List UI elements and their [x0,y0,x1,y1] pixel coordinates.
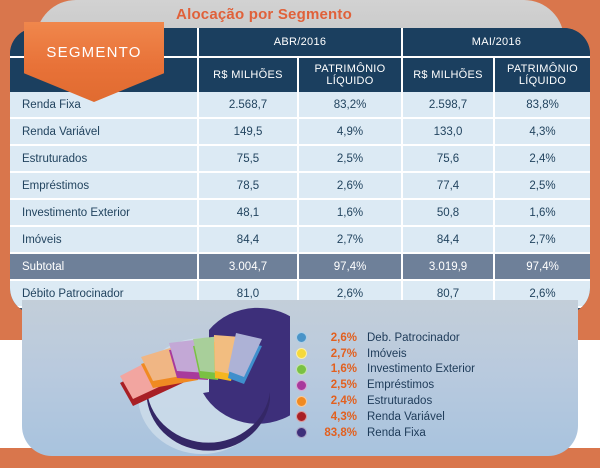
subheader-mai-pl: PATRIMÔNIO LÍQUIDO [494,57,590,92]
legend-item-investimento-exterior[interactable]: 1,6% Investimento Exterior [296,362,566,378]
cell-mai-milhoes: 133,0 [402,118,494,145]
cell-abr-pl: 4,9% [298,118,402,145]
table-row-subtotal: Subtotal 3.004,7 97,4% 3.019,9 97,4% [10,253,590,280]
legend-percent: 2,6% [313,332,357,344]
legend-label: Empréstimos [367,379,434,391]
legend-color-swatch-icon [296,427,307,438]
cell-mai-pl: 97,4% [494,253,590,280]
cell-mai-pl: 83,8% [494,92,590,118]
cell-abr-milhoes: 84,4 [198,226,298,253]
cell-segment: Empréstimos [10,172,198,199]
cell-mai-pl: 2,5% [494,172,590,199]
legend-percent: 1,6% [313,363,357,375]
legend-color-swatch-icon [296,411,307,422]
cell-abr-milhoes: 75,5 [198,145,298,172]
table-row: Investimento Exterior 48,1 1,6% 50,8 1,6… [10,199,590,226]
pie-chart [110,288,290,460]
legend-item-renda-variavel[interactable]: 4,3% Renda Variável [296,409,566,425]
cell-mai-pl: 2,7% [494,226,590,253]
legend-item-deb-patrocinador[interactable]: 2,6% Deb. Patrocinador [296,330,566,346]
legend-item-renda-fixa[interactable]: 83,8% Renda Fixa [296,425,566,441]
legend-item-emprestimos[interactable]: 2,5% Empréstimos [296,377,566,393]
subheader-line: R$ MILHÕES [199,69,297,81]
cell-abr-pl: 83,2% [298,92,402,118]
report-card: Alocação por Segmento ABR/2016 MAI/2016 … [0,0,600,468]
subheader-abr-milhoes: R$ MILHÕES [198,57,298,92]
cell-mai-milhoes: 75,6 [402,145,494,172]
chart-legend: 2,6% Deb. Patrocinador 2,7% Imóveis 1,6%… [296,330,566,441]
table-row: Estruturados 75,5 2,5% 75,6 2,4% [10,145,590,172]
cell-abr-milhoes: 2.568,7 [198,92,298,118]
legend-percent: 4,3% [313,411,357,423]
cell-mai-milhoes: 77,4 [402,172,494,199]
pie-chart-svg [110,288,290,460]
legend-label: Deb. Patrocinador [367,332,460,344]
legend-label: Renda Fixa [367,427,426,439]
table-body: Renda Fixa 2.568,7 83,2% 2.598,7 83,8% R… [10,92,590,314]
subheader-mai-milhoes: R$ MILHÕES [402,57,494,92]
cell-abr-pl: 1,6% [298,199,402,226]
legend-color-swatch-icon [296,380,307,391]
legend-item-imoveis[interactable]: 2,7% Imóveis [296,346,566,362]
legend-color-swatch-icon [296,396,307,407]
cell-segment: Investimento Exterior [10,199,198,226]
legend-color-swatch-icon [296,332,307,343]
page-title: Alocação por Segmento [0,6,528,23]
col-group-mai: MAI/2016 [402,28,590,57]
cell-mai-milhoes: 3.019,9 [402,253,494,280]
table-row: Imóveis 84,4 2,7% 84,4 2,7% [10,226,590,253]
cell-mai-pl: 1,6% [494,199,590,226]
legend-percent: 83,8% [313,427,357,439]
cell-abr-pl: 2,7% [298,226,402,253]
subheader-line: LÍQUIDO [299,75,401,87]
legend-percent: 2,4% [313,395,357,407]
legend-color-swatch-icon [296,348,307,359]
legend-item-estruturados[interactable]: 2,4% Estruturados [296,393,566,409]
cell-mai-pl: 4,3% [494,118,590,145]
legend-percent: 2,7% [313,348,357,360]
cell-abr-milhoes: 48,1 [198,199,298,226]
cell-abr-milhoes: 78,5 [198,172,298,199]
cell-abr-pl: 2,5% [298,145,402,172]
cell-mai-milhoes: 2.598,7 [402,92,494,118]
cell-segment: Renda Variável [10,118,198,145]
subheader-line: PATRIMÔNIO [495,63,590,75]
col-group-abr: ABR/2016 [198,28,402,57]
cell-mai-milhoes: 50,8 [402,199,494,226]
cell-mai-milhoes: 84,4 [402,226,494,253]
legend-label: Imóveis [367,348,407,360]
legend-label: Renda Variável [367,411,445,423]
table-row: Renda Variável 149,5 4,9% 133,0 4,3% [10,118,590,145]
legend-label: Estruturados [367,395,432,407]
cell-mai-pl: 2,4% [494,145,590,172]
cell-segment: Imóveis [10,226,198,253]
cell-abr-milhoes: 149,5 [198,118,298,145]
segmento-badge-label: SEGMENTO [24,44,164,61]
subheader-line: LÍQUIDO [495,75,590,87]
cell-segment: Subtotal [10,253,198,280]
cell-segment: Estruturados [10,145,198,172]
cell-abr-pl: 97,4% [298,253,402,280]
subheader-line: R$ MILHÕES [403,69,493,81]
legend-percent: 2,5% [313,379,357,391]
subheader-line: PATRIMÔNIO [299,63,401,75]
cell-abr-milhoes: 3.004,7 [198,253,298,280]
cell-abr-pl: 2,6% [298,172,402,199]
legend-label: Investimento Exterior [367,363,475,375]
subheader-abr-pl: PATRIMÔNIO LÍQUIDO [298,57,402,92]
legend-color-swatch-icon [296,364,307,375]
table-row: Empréstimos 78,5 2,6% 77,4 2,5% [10,172,590,199]
